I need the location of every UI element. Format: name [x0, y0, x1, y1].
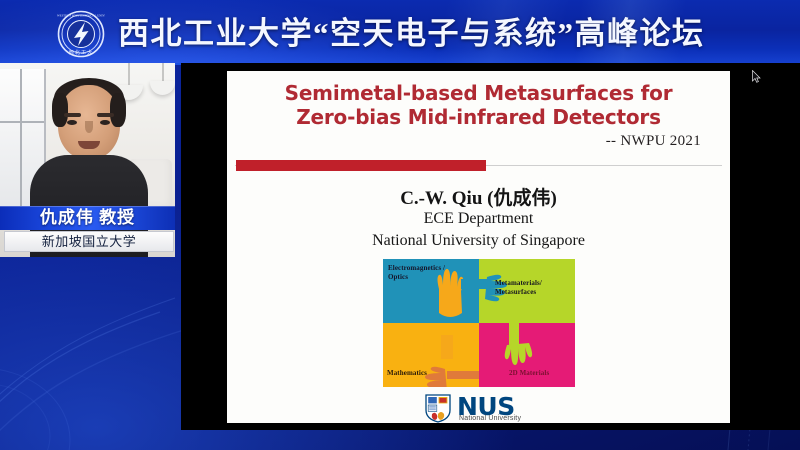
slide-department: ECE Department: [227, 210, 730, 228]
forum-header-banner: NORTHWESTERN POLYTECHNICAL UNIVERSITY 西北…: [0, 0, 800, 65]
lamp-cord: [162, 63, 164, 81]
research-areas-figure: Electromagnetics / Optics Metamaterials/…: [383, 259, 575, 387]
lamp-cord: [128, 63, 130, 85]
speaker-brow: [97, 113, 114, 117]
speaker-affiliation: 新加坡国立大学: [5, 232, 173, 251]
slide-author-name: C.-W. Qiu (仇成伟): [227, 183, 730, 210]
speaker-hair-side: [110, 93, 126, 127]
slide-university: National University of Singapore: [227, 232, 730, 250]
video-stream-stage: NORTHWESTERN POLYTECHNICAL UNIVERSITY 西北…: [0, 0, 800, 450]
nus-shield-crest-icon: [423, 393, 453, 423]
slide-title: Semimetal-based Metasurfaces for Zero-bi…: [227, 81, 730, 129]
speaker-eye: [67, 120, 77, 125]
quadrant-label-electromagnetics: Electromagnetics / Optics: [388, 264, 445, 282]
speaker-eye: [100, 120, 110, 125]
presentation-slide[interactable]: Semimetal-based Metasurfaces for Zero-bi…: [227, 71, 730, 423]
speaker-name-banner: 仇成伟 教授: [0, 206, 175, 230]
speaker-brow: [64, 113, 81, 117]
quadrant-label-metamaterials: Metamaterials/ Metasurfaces: [495, 279, 542, 297]
slide-accent-bar: [236, 160, 486, 171]
slide-title-line-1: Semimetal-based Metasurfaces for: [227, 81, 730, 105]
quadrant-label-mathematics: Mathematics: [387, 369, 427, 378]
speaker-nose: [85, 121, 93, 133]
slide-subtitle: -- NWPU 2021: [606, 133, 701, 150]
window-mullion: [0, 121, 44, 123]
shared-screen-region[interactable]: Semimetal-based Metasurfaces for Zero-bi…: [181, 63, 800, 430]
svg-text:NORTHWESTERN POLYTECHNICAL UNI: NORTHWESTERN POLYTECHNICAL UNIVERSITY: [57, 13, 105, 17]
quadrant-label-2d-materials: 2D Materials: [509, 369, 549, 378]
mouse-cursor-icon: [752, 70, 761, 83]
forum-title: 西北工业大学“空天电子与系统”高峰论坛: [118, 9, 705, 59]
speaker-affiliation-banner: 新加坡国立大学: [4, 231, 174, 252]
svg-text:西北工大: 西北工大: [69, 48, 94, 56]
slide-title-line-2: Zero-bias Mid-infrared Detectors: [227, 105, 730, 129]
speaker-hair-side: [52, 93, 68, 127]
nus-tagline: National University: [459, 415, 521, 422]
nus-logo: NUS National University: [227, 393, 730, 423]
window-mullion: [20, 69, 22, 219]
nwpu-university-emblem-icon: NORTHWESTERN POLYTECHNICAL UNIVERSITY 西北…: [57, 10, 105, 58]
speaker-name: 仇成伟 教授: [0, 206, 175, 230]
